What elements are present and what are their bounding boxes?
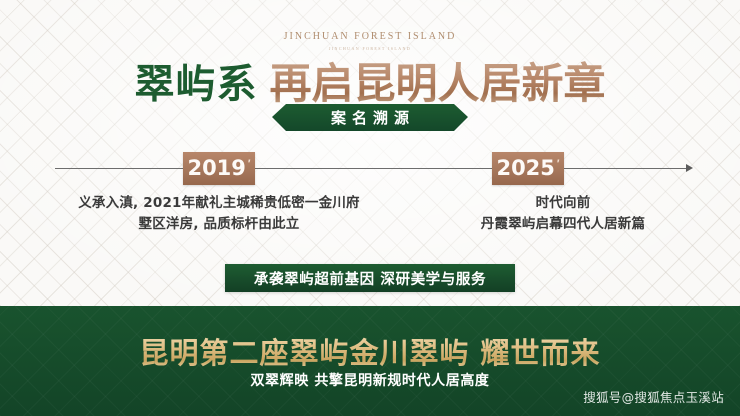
timeline-arrow-icon [686, 164, 693, 172]
timeline-body-2019-line1: 义承入滇, 2021年献礼主城稀贵低密一金川府 [38, 193, 400, 214]
timeline-body-2019-line2: 墅区洋房, 品质标杆由此立 [38, 214, 400, 235]
section-badge: 案名溯源 [272, 104, 468, 131]
timeline-body-2025-line2: 丹霞翠屿启幕四代人居新篇 [418, 214, 708, 235]
timeline-year-badge-2019: 2019′ [183, 152, 255, 185]
section-badge-label: 案名溯源 [325, 107, 415, 128]
timeline-body-2019: 义承入滇, 2021年献礼主城稀贵低密一金川府 墅区洋房, 品质标杆由此立 [38, 193, 400, 235]
timeline-year-badge-2025: 2025′ [492, 152, 564, 185]
poster-canvas: JINCHUAN FOREST ISLAND JINCHUAN FOREST I… [0, 0, 740, 416]
brand-logo-text: JINCHUAN FOREST ISLAND [284, 31, 457, 42]
year-tick-2025: ′ [557, 158, 560, 170]
timeline-body-2025-line1: 时代向前 [418, 193, 708, 214]
brand-logo: JINCHUAN FOREST ISLAND JINCHUAN FOREST I… [0, 26, 740, 51]
headline-green-text: 翠屿系 [134, 62, 257, 108]
year-label-2019: 2019 [187, 158, 245, 179]
main-headline: 翠屿系再启昆明人居新章 [0, 50, 740, 111]
strapline-bar: 承袭翠屿超前基因 深研美学与服务 [225, 264, 515, 292]
headline-bronze-text: 再启昆明人居新章 [269, 59, 605, 108]
year-label-2025: 2025 [496, 158, 554, 179]
timeline-axis [55, 168, 690, 169]
timeline-body-2025: 时代向前 丹霞翠屿启幕四代人居新篇 [418, 193, 708, 235]
footer-title: 昆明第二座翠屿金川翠屿 耀世而来 [0, 330, 740, 372]
strapline-text: 承袭翠屿超前基因 深研美学与服务 [254, 268, 486, 289]
year-tick-2019: ′ [248, 158, 251, 170]
sohu-watermark: 搜狐号@搜狐焦点玉溪站 [583, 387, 724, 406]
